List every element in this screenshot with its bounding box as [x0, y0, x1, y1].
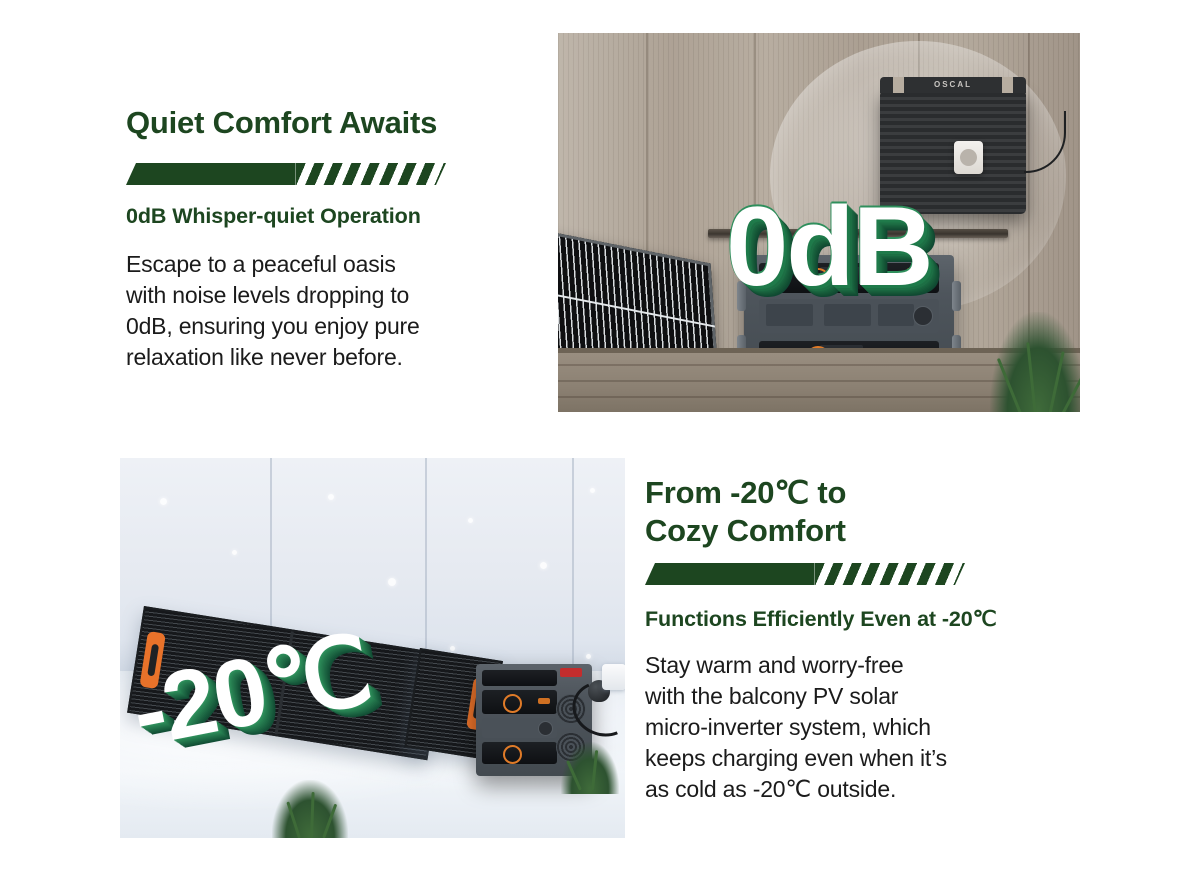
- striped-accent-divider-2: [645, 563, 965, 585]
- power-button[interactable]: [538, 721, 553, 736]
- plant-blade: [566, 760, 582, 790]
- plant-blade: [997, 358, 1023, 412]
- section-cold-weather-text: From -20℃ to Cozy Comfort: [645, 474, 1065, 550]
- snow-flake: [590, 488, 595, 493]
- plant-blade: [591, 750, 598, 790]
- feature-description: Escape to a peaceful oasis with noise le…: [126, 249, 556, 373]
- plant-blade: [286, 801, 301, 838]
- divider-striped-segment: [815, 563, 965, 585]
- decorative-plant: [990, 312, 1080, 412]
- decorative-plant: [561, 742, 619, 794]
- divider-solid-segment: [126, 163, 296, 185]
- snow-flake: [232, 550, 237, 555]
- plant-blade: [310, 792, 315, 838]
- top-indicator: [560, 668, 582, 677]
- power-station-handle: [952, 281, 961, 311]
- photo-snow-solar-panel: -20℃: [120, 458, 625, 838]
- section-quiet-comfort-subhead-wrap: 0dB Whisper-quiet Operation: [126, 203, 566, 229]
- photo-micro-inverter-wall: OSCAL: [558, 33, 1080, 412]
- snow-flake: [388, 578, 396, 586]
- snow-flake: [468, 518, 473, 523]
- plant-blade: [1048, 351, 1065, 412]
- feature-description-secondary: Stay warm and worry-free with the balcon…: [645, 650, 1095, 805]
- section-cold-weather-body-wrap: Stay warm and worry-free with the balcon…: [645, 650, 1095, 805]
- plant-blade: [1060, 369, 1080, 412]
- snow-flake: [450, 646, 455, 651]
- snow-flake: [540, 562, 547, 569]
- power-station-control-row: [482, 718, 557, 738]
- section-cold-weather-subhead-wrap: Functions Efficiently Even at -20℃: [645, 606, 1115, 632]
- plant-blade: [322, 804, 337, 838]
- snow-flake: [586, 654, 591, 659]
- wall-outlet: [602, 664, 625, 690]
- feature-subheading: 0dB Whisper-quiet Operation: [126, 203, 566, 229]
- overlay-label-0db: 0dB: [726, 191, 932, 303]
- striped-accent-divider-1: [126, 163, 446, 185]
- page-title: Quiet Comfort Awaits: [126, 104, 556, 142]
- page-title-secondary: From -20℃ to Cozy Comfort: [645, 474, 1065, 550]
- oscal-brand-logo: OSCAL: [880, 80, 1026, 89]
- decorative-plant: [272, 780, 348, 838]
- wall-outlet: [954, 141, 983, 174]
- snow-flake: [160, 498, 167, 505]
- marketing-page: Quiet Comfort Awaits 0dB Whisper-quiet O…: [0, 0, 1200, 890]
- output-port: [538, 698, 550, 704]
- power-station-top-ports: [482, 670, 557, 686]
- wall-seam: [572, 458, 574, 694]
- section-quiet-comfort-text: Quiet Comfort Awaits: [126, 104, 556, 142]
- plant-blade: [1026, 342, 1037, 412]
- snow-flake: [328, 494, 334, 500]
- feature-subheading-secondary: Functions Efficiently Even at -20℃: [645, 606, 1115, 632]
- divider-solid-segment: [645, 563, 815, 585]
- status-dial: [503, 694, 522, 713]
- power-station-display-top: [482, 690, 557, 714]
- status-dial: [503, 745, 522, 764]
- power-station-display-bottom: [482, 742, 557, 764]
- divider-striped-segment: [296, 163, 446, 185]
- power-button[interactable]: [913, 306, 933, 326]
- section-quiet-comfort-body-wrap: Escape to a peaceful oasis with noise le…: [126, 249, 556, 373]
